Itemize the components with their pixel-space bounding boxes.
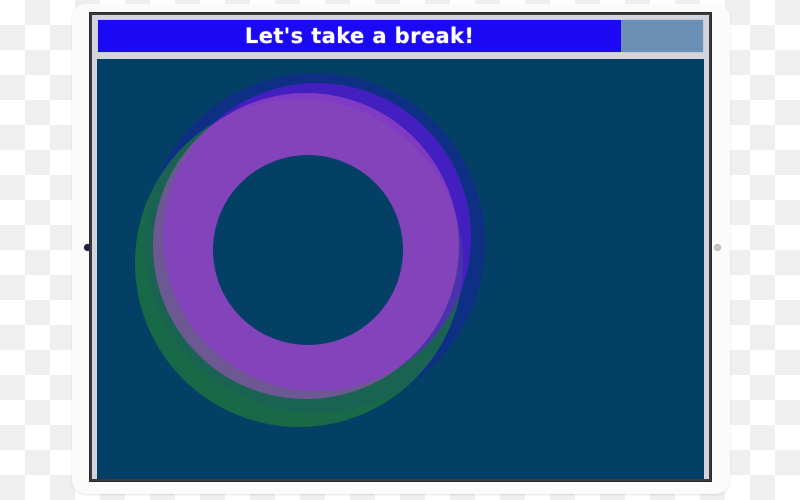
progress-bar-label: Let's take a break! (98, 20, 703, 52)
sensor-dot-icon (714, 244, 721, 251)
screen-frame: Let's take a break! (89, 12, 712, 482)
break-progress-bar[interactable]: Let's take a break! (97, 19, 704, 53)
artwork-canvas (97, 59, 704, 479)
screenshot-root: Let's take a break! (0, 0, 800, 500)
ring-center-hole (213, 155, 403, 345)
screen: Let's take a break! (92, 15, 709, 479)
tablet-device-bezel: Let's take a break! (72, 4, 730, 494)
